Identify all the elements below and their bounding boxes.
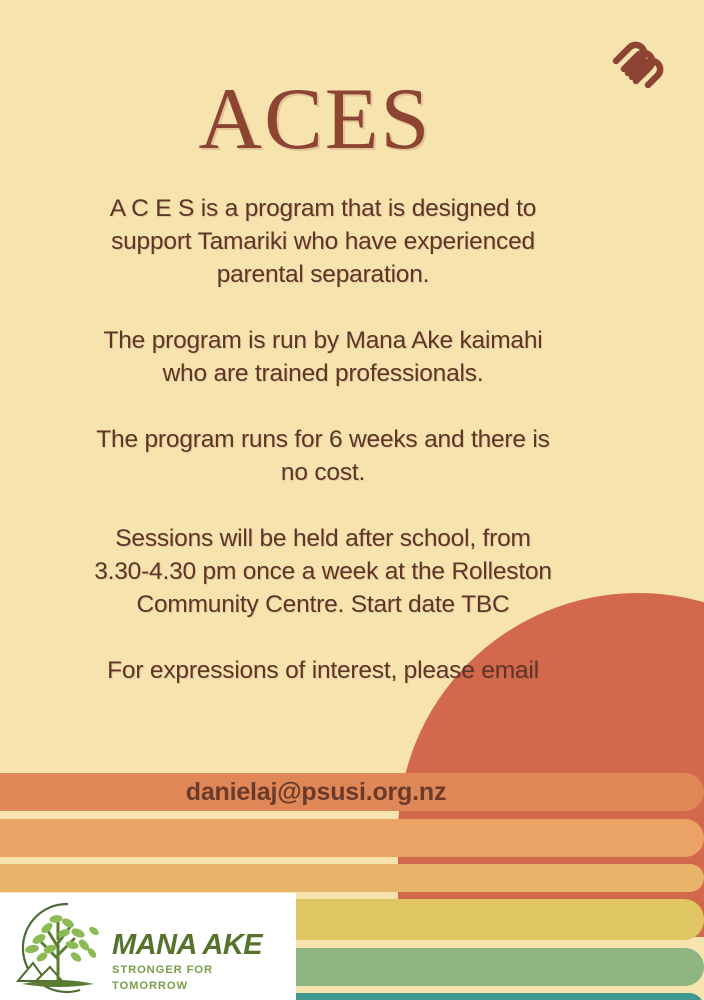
paragraph-sessions: Sessions will be held after school, from… [88, 522, 558, 621]
mana-ake-wordmark: MANA AKE STRONGER FOR TOMORROW [112, 929, 292, 994]
logo-title: MANA AKE [112, 929, 292, 961]
mana-ake-tree-icon [6, 897, 110, 997]
logo-tagline: STRONGER FOR TOMORROW [112, 962, 292, 994]
contact-email[interactable]: danielaj@psusi.org.nz [0, 773, 632, 811]
page-title: ACES [0, 76, 630, 164]
paragraph-staff: The program is run by Mana Ake kaimahi w… [88, 324, 558, 390]
body-copy: A C E S is a program that is designed to… [88, 192, 558, 687]
poster-canvas: ACES A C E S is a program that is design… [0, 0, 704, 1000]
orange-stripe [0, 819, 704, 857]
paragraph-duration: The program runs for 6 weeks and there i… [88, 423, 558, 489]
tan-stripe [0, 864, 704, 892]
mana-ake-logo: MANA AKE STRONGER FOR TOMORROW [0, 893, 296, 1000]
squarespace-logo-icon [602, 28, 670, 96]
paragraph-contact: For expressions of interest, please emai… [88, 654, 558, 687]
paragraph-intro: A C E S is a program that is designed to… [88, 192, 558, 291]
